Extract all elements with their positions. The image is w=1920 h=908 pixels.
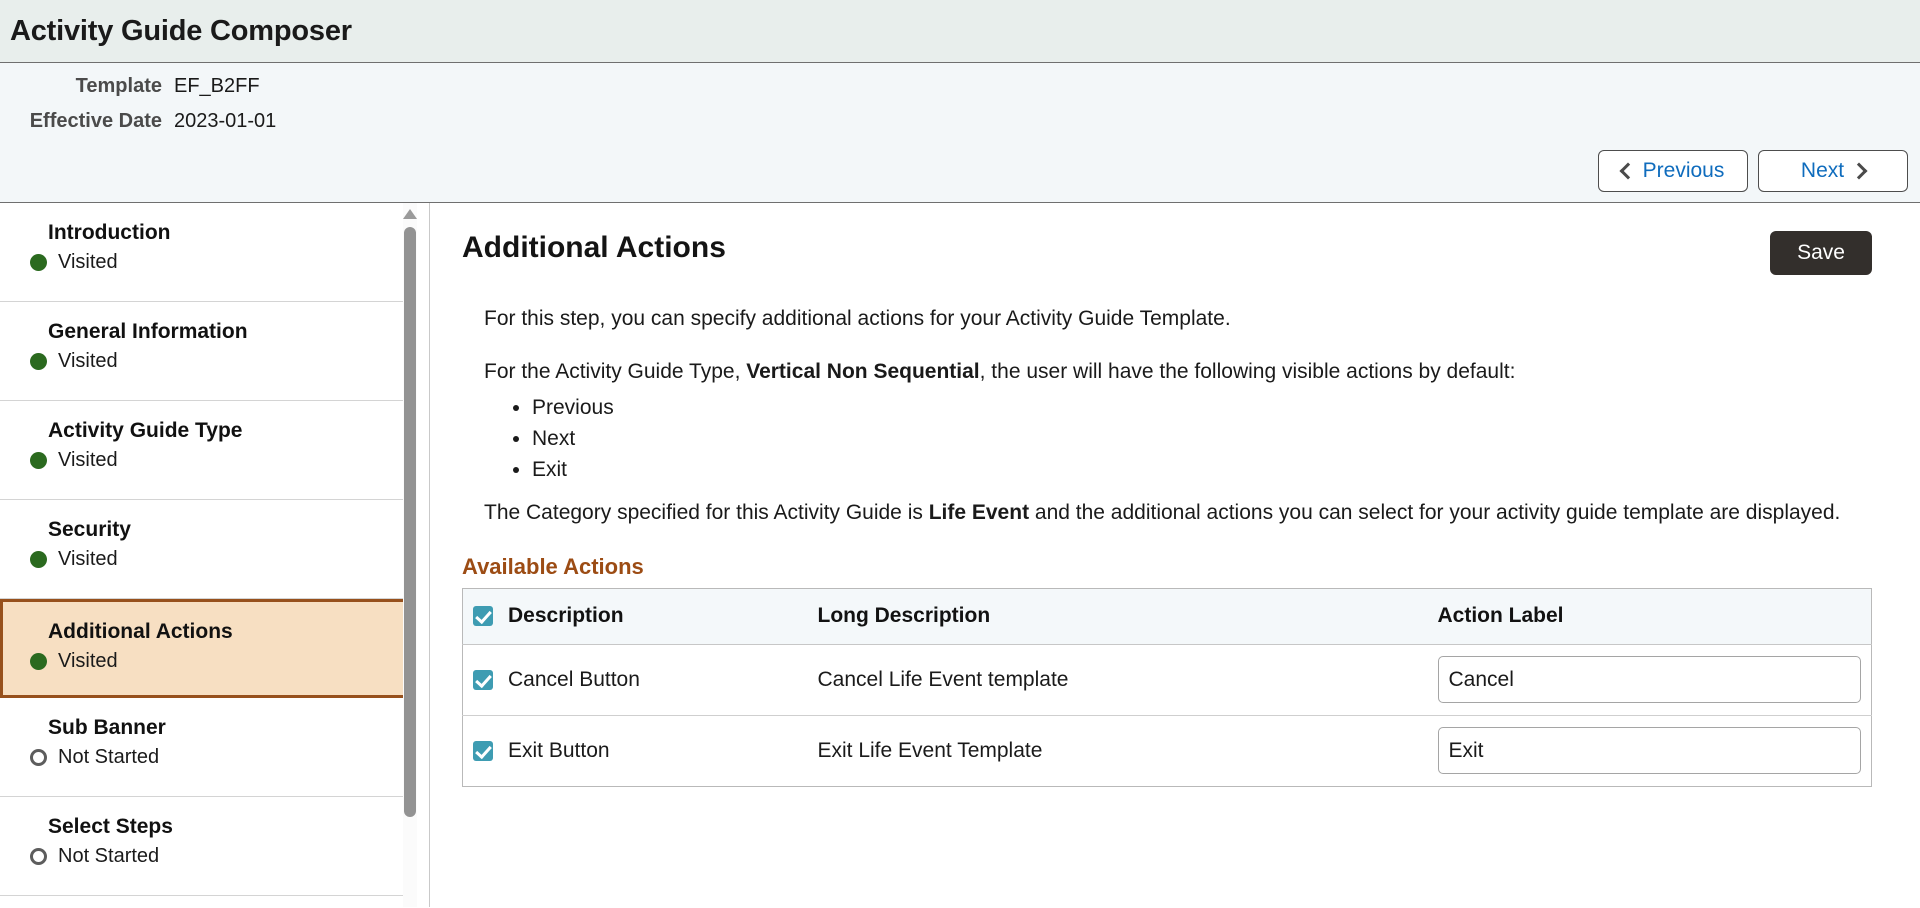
template-subheader: Template EF_B2FF Effective Date 2023-01-… [0, 63, 1920, 203]
sidebar-item-status-label: Not Started [58, 746, 159, 769]
sidebar-item-status: Visited [30, 251, 407, 274]
scroll-up-arrow-icon[interactable] [403, 209, 417, 219]
sidebar-item-security[interactable]: SecurityVisited [0, 500, 407, 599]
cell-description-label: Cancel Button [508, 668, 640, 692]
sidebar-item-status: Visited [30, 350, 407, 373]
sidebar-item-status-label: Not Started [58, 845, 159, 868]
sidebar-item-status-label: Visited [58, 650, 118, 673]
meta-row-effective-date: Effective Date 2023-01-01 [0, 110, 1920, 145]
cell-description: Cancel Button [463, 644, 808, 715]
category-value: Life Event [929, 501, 1029, 524]
chevron-left-icon [1619, 163, 1636, 180]
category-paragraph-pre: The Category specified for this Activity… [484, 501, 929, 524]
main-content: Additional Actions Save For this step, y… [430, 203, 1920, 907]
sidebar-item-status-label: Visited [58, 548, 118, 571]
available-actions-table: Description Long Description Action Labe… [462, 588, 1872, 787]
action-label-input[interactable] [1438, 656, 1862, 703]
app-banner: Activity Guide Composer [0, 0, 1920, 63]
sidebar-item-status: Visited [30, 650, 404, 673]
sidebar-item-sub-banner[interactable]: Sub BannerNot Started [0, 698, 407, 797]
sidebar-item-label: Introduction [48, 221, 407, 245]
sidebar-item-status-label: Visited [58, 449, 118, 472]
sidebar-item-label: Sub Banner [48, 716, 407, 740]
visited-status-icon [30, 254, 47, 271]
column-header-description-label: Description [508, 604, 624, 628]
page-title: Activity Guide Composer [10, 15, 352, 48]
navigation-buttons: Previous Next [1598, 150, 1908, 192]
table-row: Exit ButtonExit Life Event Template [463, 715, 1872, 786]
previous-button[interactable]: Previous [1598, 150, 1748, 192]
table-head: Description Long Description Action Labe… [463, 588, 1872, 644]
intro-paragraph: For this step, you can specify additiona… [484, 305, 1872, 332]
category-paragraph: The Category specified for this Activity… [484, 499, 1872, 526]
default-action-item: Previous [532, 394, 1872, 423]
meta-row-template: Template EF_B2FF [0, 75, 1920, 110]
action-label-input[interactable] [1438, 727, 1862, 774]
visited-status-icon [30, 653, 47, 670]
body-wrapper: IntroductionVisitedGeneral InformationVi… [0, 203, 1920, 907]
template-meta: Template EF_B2FF Effective Date 2023-01-… [0, 63, 1920, 145]
cell-description-label: Exit Button [508, 739, 610, 763]
sidebar-item-status: Not Started [30, 845, 407, 868]
table-row: Cancel ButtonCancel Life Event template [463, 644, 1872, 715]
effective-date-value: 2023-01-01 [174, 110, 276, 133]
sidebar-item-label: Security [48, 518, 407, 542]
sidebar-item-label: General Information [48, 320, 407, 344]
not-started-status-icon [30, 848, 47, 865]
sidebar-item-activity-guide-type[interactable]: Activity Guide TypeVisited [0, 401, 407, 500]
cell-description: Exit Button [463, 715, 808, 786]
sidebar-item-status-label: Visited [58, 251, 118, 274]
category-paragraph-post: and the additional actions you can selec… [1029, 501, 1840, 524]
sidebar-item-status-label: Visited [58, 350, 118, 373]
visited-status-icon [30, 353, 47, 370]
cell-action-label [1428, 715, 1872, 786]
type-paragraph: For the Activity Guide Type, Vertical No… [484, 358, 1872, 385]
sidebar-item-label: Activity Guide Type [48, 419, 407, 443]
column-header-description: Description [463, 588, 808, 644]
visited-status-icon [30, 452, 47, 469]
save-button[interactable]: Save [1770, 231, 1872, 275]
row-checkbox[interactable] [473, 741, 493, 761]
row-checkbox[interactable] [473, 670, 493, 690]
visited-status-icon [30, 551, 47, 568]
default-action-item: Exit [532, 456, 1872, 485]
step-list: IntroductionVisitedGeneral InformationVi… [0, 203, 429, 907]
template-value: EF_B2FF [174, 75, 260, 98]
previous-button-label: Previous [1643, 159, 1725, 183]
not-started-status-icon [30, 749, 47, 766]
column-header-long-description: Long Description [808, 588, 1428, 644]
sidebar-item-status: Not Started [30, 746, 407, 769]
sidebar-item-introduction[interactable]: IntroductionVisited [0, 203, 407, 302]
scrollbar-thumb[interactable] [404, 227, 416, 817]
next-button-label: Next [1801, 159, 1844, 183]
sidebar-item-general-information[interactable]: General InformationVisited [0, 302, 407, 401]
next-button[interactable]: Next [1758, 150, 1908, 192]
template-label: Template [0, 75, 162, 98]
sidebar-item-label: Additional Actions [48, 620, 404, 644]
cell-long-description: Exit Life Event Template [808, 715, 1428, 786]
table-header-row: Description Long Description Action Labe… [463, 588, 1872, 644]
available-actions-heading: Available Actions [462, 554, 1872, 580]
activity-guide-type-value: Vertical Non Sequential [746, 360, 979, 383]
select-all-checkbox[interactable] [473, 606, 493, 626]
sidebar-scrollbar[interactable] [403, 203, 417, 907]
sidebar-item-status: Visited [30, 548, 407, 571]
sidebar-item-label: Select Steps [48, 815, 407, 839]
chevron-right-icon [1851, 163, 1868, 180]
cell-action-label [1428, 644, 1872, 715]
sidebar-item-additional-actions[interactable]: Additional ActionsVisited [0, 599, 407, 698]
type-paragraph-post: , the user will have the following visib… [980, 360, 1516, 383]
type-paragraph-pre: For the Activity Guide Type, [484, 360, 746, 383]
section-heading: Additional Actions [462, 231, 1872, 265]
default-action-item: Next [532, 425, 1872, 454]
effective-date-label: Effective Date [0, 110, 162, 133]
default-actions-list: PreviousNextExit [532, 394, 1872, 485]
table-body: Cancel ButtonCancel Life Event templateE… [463, 644, 1872, 786]
step-sidebar: IntroductionVisitedGeneral InformationVi… [0, 203, 430, 907]
column-header-action-label: Action Label [1428, 588, 1872, 644]
cell-long-description: Cancel Life Event template [808, 644, 1428, 715]
sidebar-item-status: Visited [30, 449, 407, 472]
sidebar-item-select-steps[interactable]: Select StepsNot Started [0, 797, 407, 896]
